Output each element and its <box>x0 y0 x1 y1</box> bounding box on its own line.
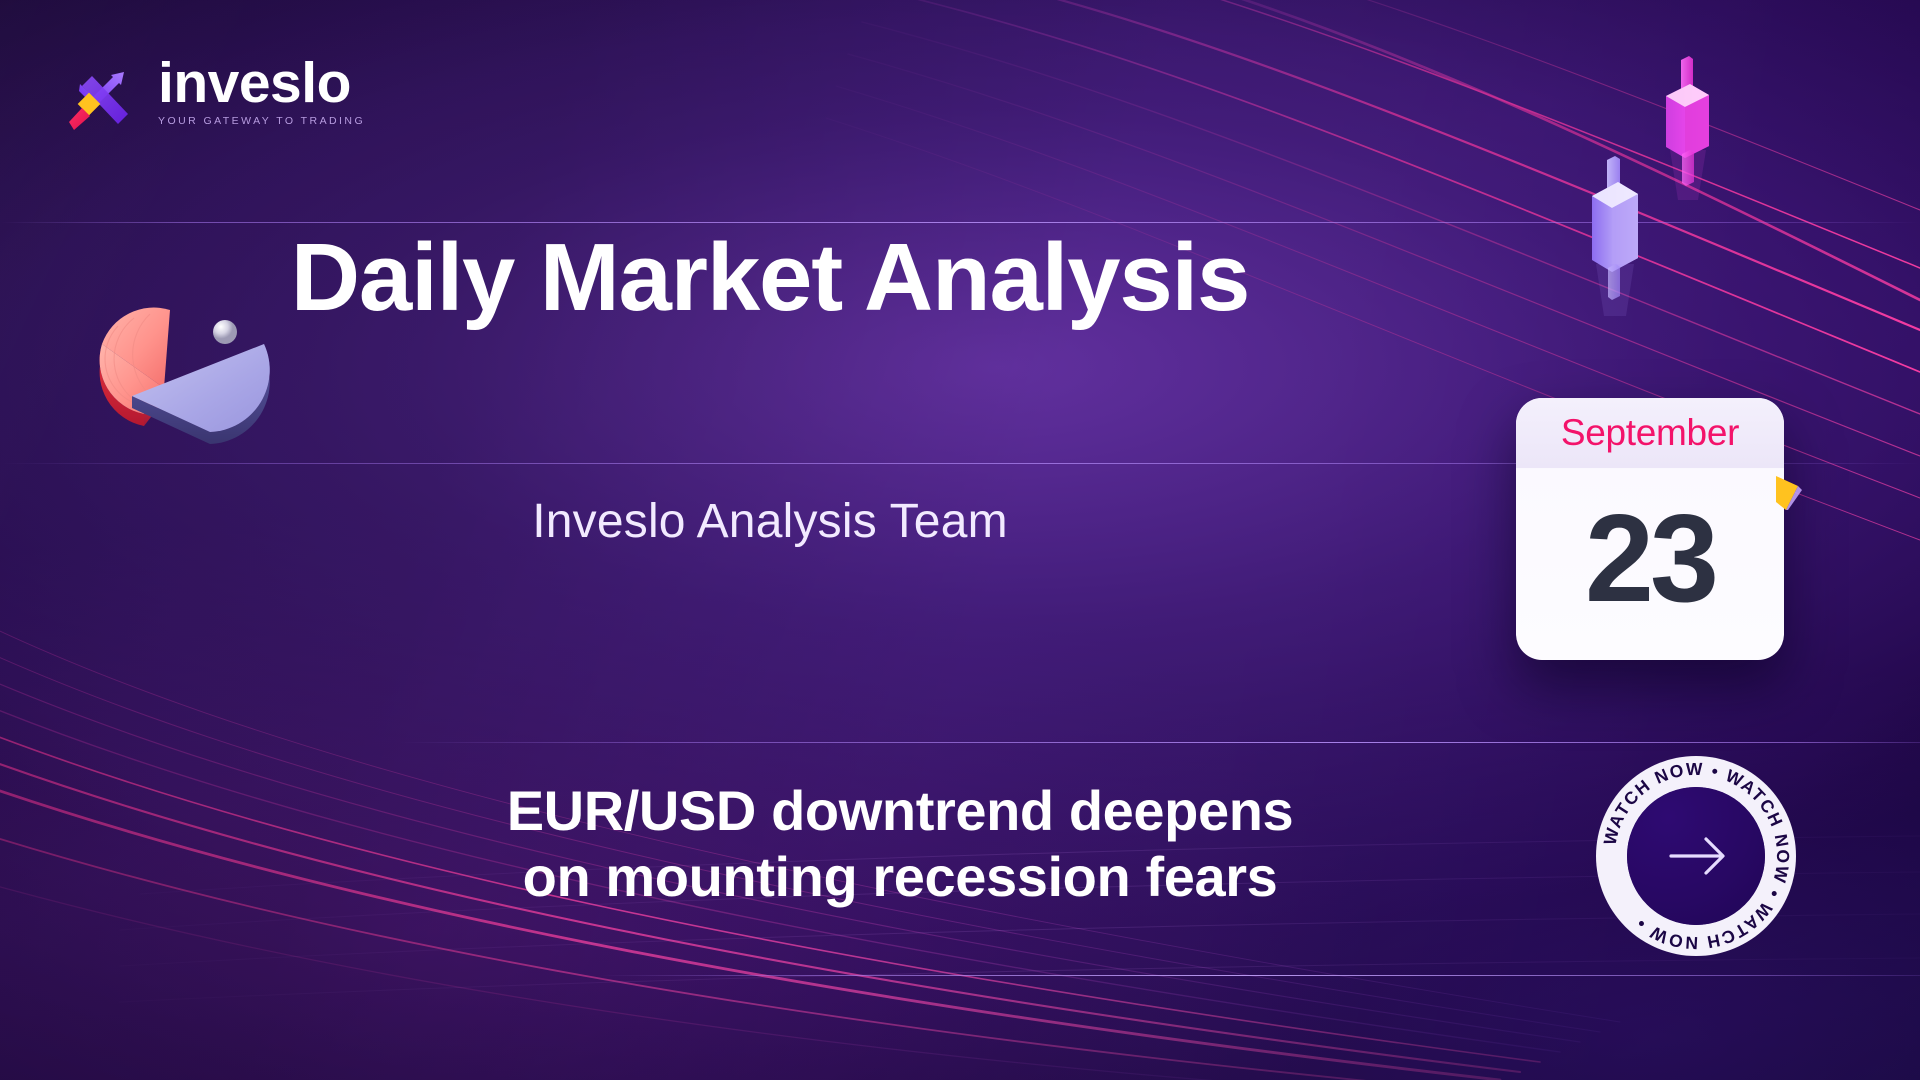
brand-tagline: YOUR GATEWAY TO TRADING <box>158 115 365 127</box>
upward-arrow-chart-icon <box>66 52 144 132</box>
3d-candlestick-icon <box>1570 50 1790 340</box>
calendar-page-tab-icon <box>1776 476 1802 510</box>
headline: EUR/USD downtrend deepens on mounting re… <box>330 778 1470 909</box>
calendar-card: September 23 <box>1516 398 1784 660</box>
poster-canvas: inveslo YOUR GATEWAY TO TRADING <box>0 0 1920 1080</box>
divider-bottom <box>600 975 1920 976</box>
brand-name: inveslo <box>158 57 365 109</box>
calendar-day: 23 <box>1585 497 1715 621</box>
calendar-body: 23 <box>1516 468 1784 660</box>
calendar-header: September <box>1516 398 1784 468</box>
watch-now-badge[interactable]: WATCH NOW • WATCH NOW • WATCH NOW • <box>1596 756 1796 956</box>
headline-line-1: EUR/USD downtrend deepens <box>330 778 1470 844</box>
brand-logo[interactable]: inveslo YOUR GATEWAY TO TRADING <box>66 52 365 132</box>
headline-line-2: on mounting recession fears <box>330 844 1470 910</box>
calendar-month: September <box>1561 412 1739 454</box>
byline: Inveslo Analysis Team <box>0 494 1540 549</box>
divider-headline <box>400 742 1920 743</box>
page-title: Daily Market Analysis <box>0 228 1540 329</box>
arrow-right-icon <box>1627 787 1765 925</box>
